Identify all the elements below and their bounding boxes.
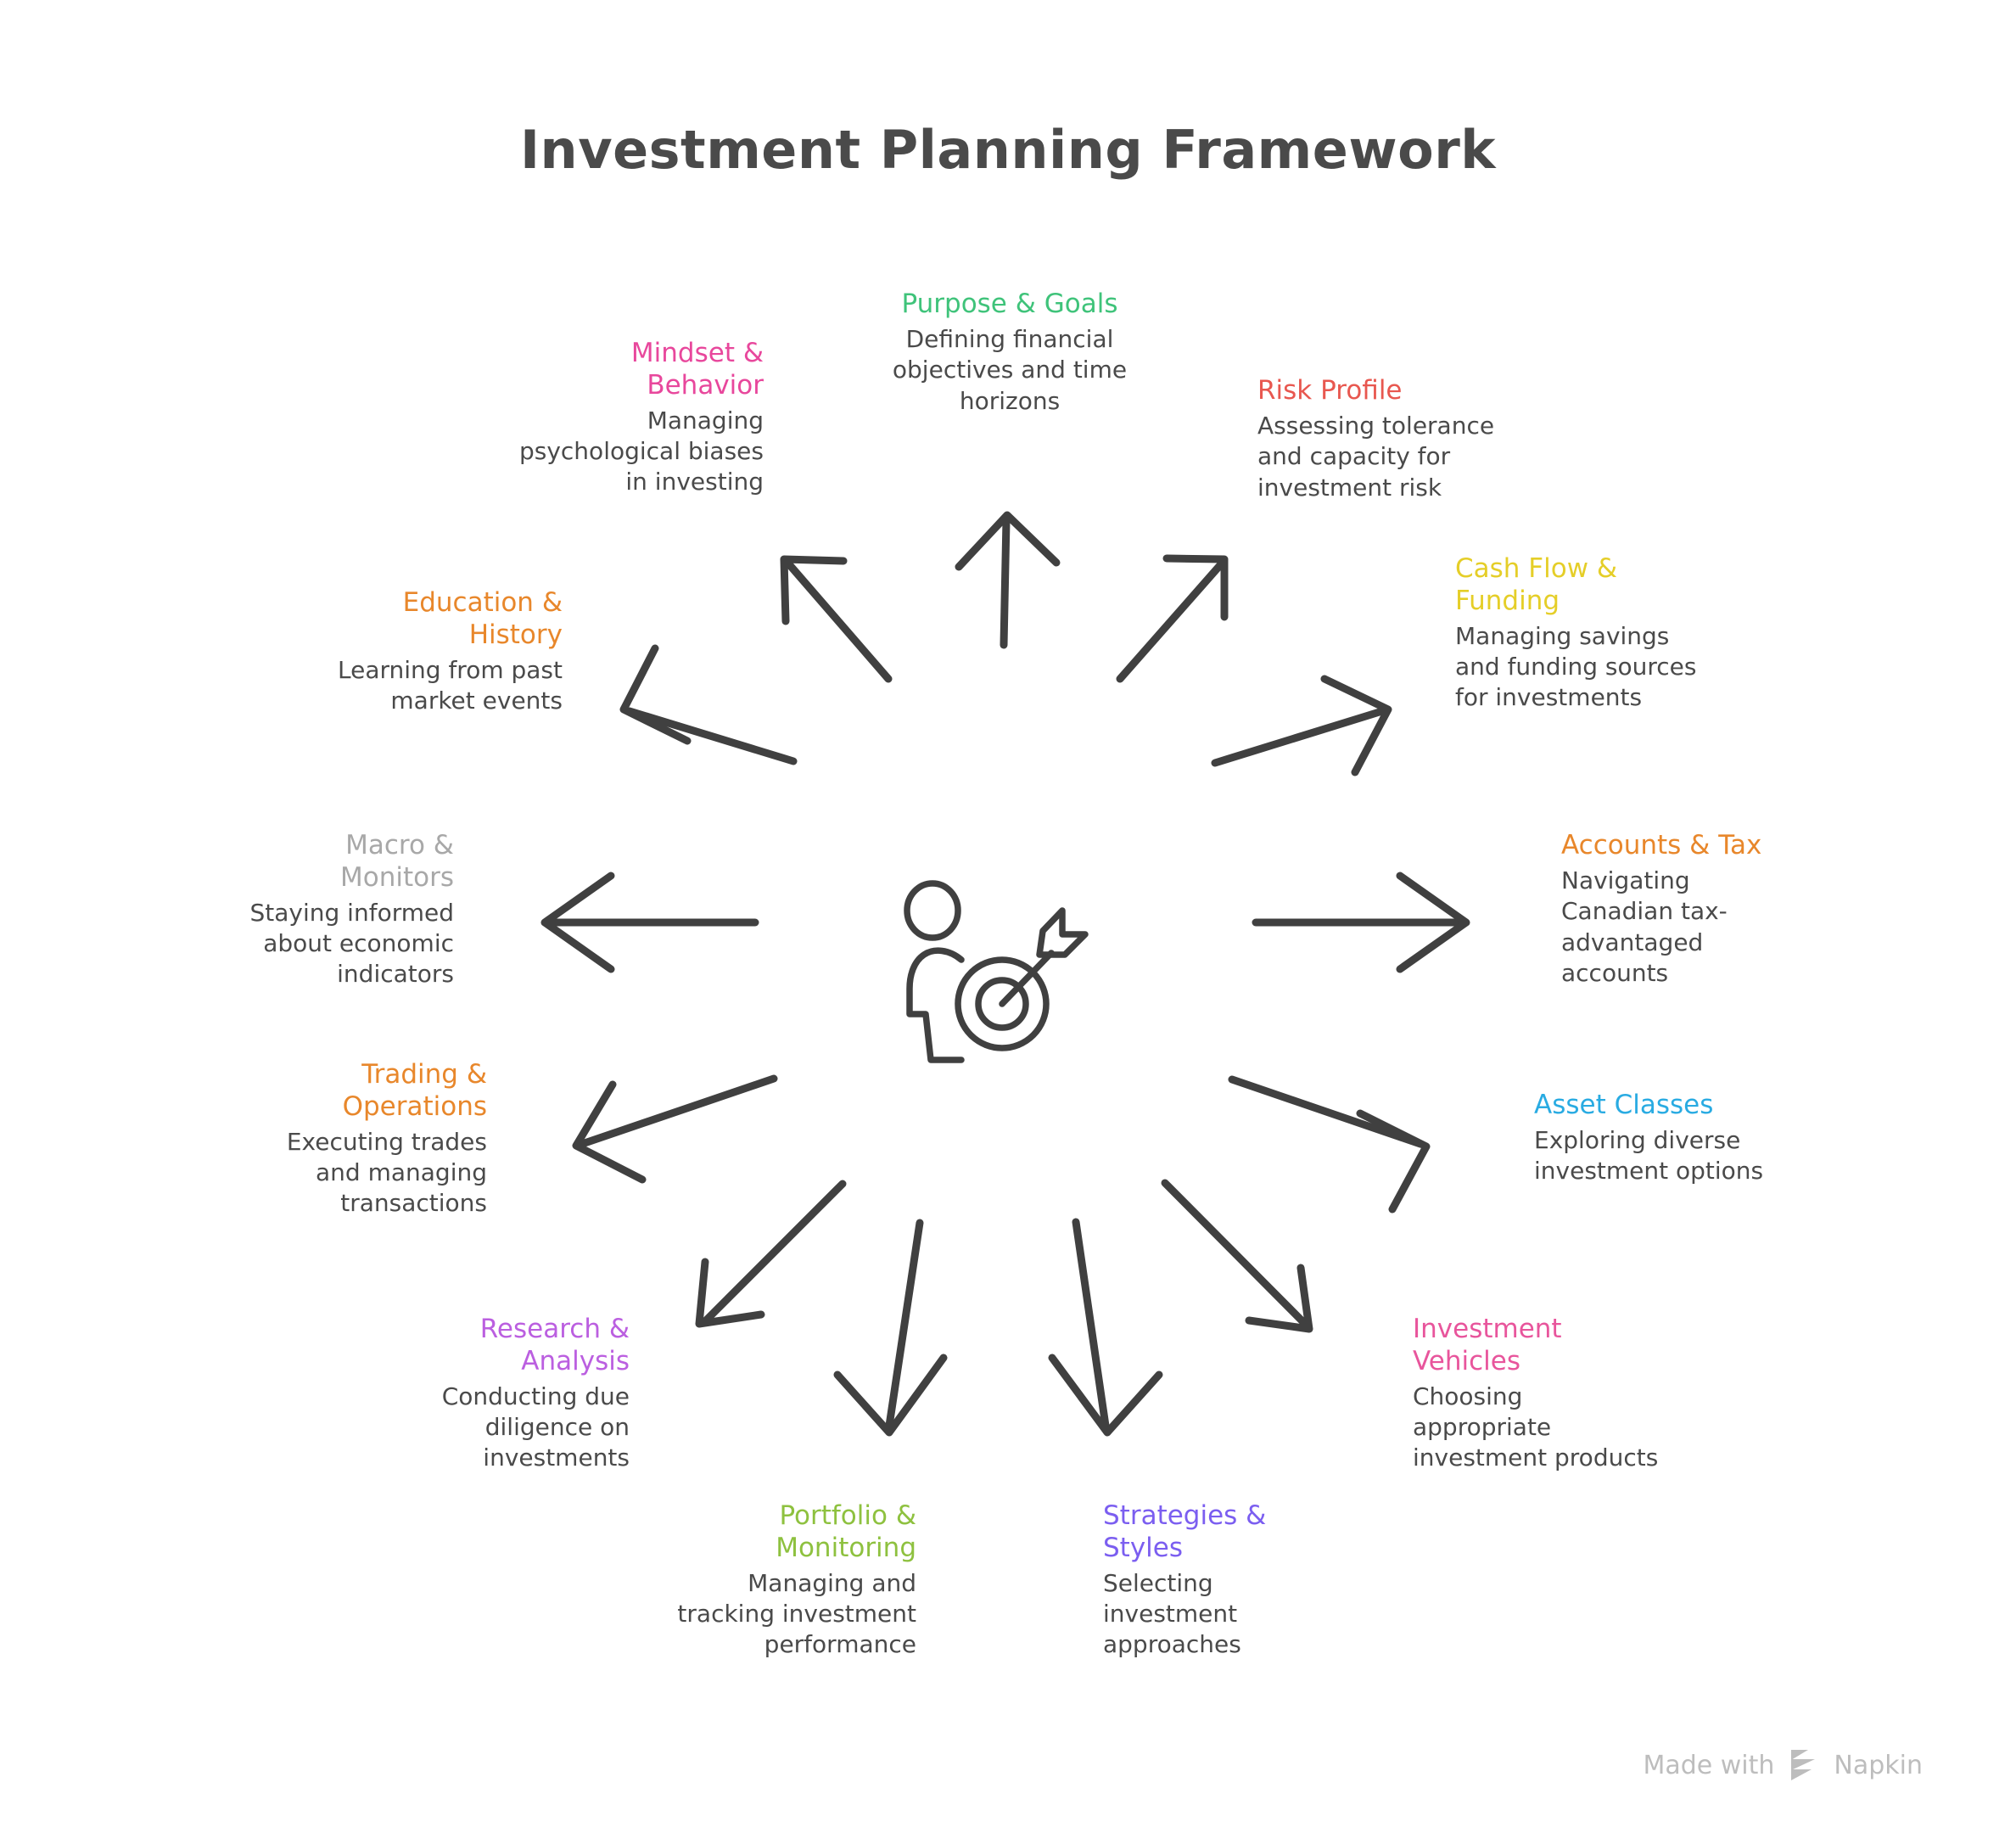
node-description: Managing savings and funding sources for… bbox=[1455, 621, 1744, 714]
node-description: Staying informed about economic indicato… bbox=[212, 898, 454, 990]
arrow-to-purpose-goals bbox=[959, 515, 1056, 645]
arrow-to-trading-operations bbox=[576, 1079, 774, 1180]
node-title: Accounts & Tax bbox=[1561, 830, 1841, 862]
person-with-target-and-arrow-icon bbox=[893, 878, 1097, 1065]
node-title: Portfolio & Monitoring bbox=[628, 1500, 916, 1565]
node-investment-vehicles[interactable]: Investment Vehicles Choosing appropriate… bbox=[1413, 1314, 1701, 1474]
node-description: Defining financial objectives and time h… bbox=[848, 324, 1171, 417]
arrow-to-risk-profile bbox=[1120, 558, 1224, 679]
page-title: Investment Planning Framework bbox=[0, 119, 2016, 181]
node-title: Trading & Operations bbox=[248, 1059, 487, 1124]
made-with-label: Made with bbox=[1643, 1751, 1774, 1780]
arrow-to-portfolio-monitoring bbox=[837, 1223, 944, 1432]
node-research-analysis[interactable]: Research & Analysis Conducting due dilig… bbox=[390, 1314, 630, 1474]
node-macro-monitors[interactable]: Macro & Monitors Staying informed about … bbox=[212, 830, 454, 990]
node-title: Cash Flow & Funding bbox=[1455, 553, 1744, 618]
node-description: Navigating Canadian tax- advantaged acco… bbox=[1561, 866, 1841, 989]
node-title: Research & Analysis bbox=[390, 1314, 630, 1378]
napkin-brand-label: Napkin bbox=[1834, 1751, 1923, 1780]
node-description: Assessing tolerance and capacity for inv… bbox=[1257, 411, 1563, 503]
node-description: Selecting investment approaches bbox=[1103, 1568, 1375, 1661]
napkin-attribution[interactable]: Made with Napkin bbox=[1643, 1748, 1923, 1782]
node-title: Asset Classes bbox=[1534, 1090, 1823, 1122]
node-asset-classes[interactable]: Asset Classes Exploring diverse investme… bbox=[1534, 1090, 1823, 1187]
node-description: Conducting due diligence on investments bbox=[390, 1382, 630, 1474]
arrow-to-macro-monitors bbox=[545, 876, 755, 969]
node-title: Strategies & Styles bbox=[1103, 1500, 1375, 1565]
node-description: Exploring diverse investment options bbox=[1534, 1125, 1823, 1187]
diagram-canvas: Investment Planning Framework bbox=[0, 0, 2016, 1833]
napkin-chevron-logo-icon bbox=[1786, 1748, 1822, 1782]
node-strategies-styles[interactable]: Strategies & Styles Selecting investment… bbox=[1103, 1500, 1375, 1661]
node-education-history[interactable]: Education & History Learning from past m… bbox=[295, 587, 563, 716]
node-description: Choosing appropriate investment products bbox=[1413, 1382, 1701, 1474]
node-title: Risk Profile bbox=[1257, 375, 1563, 407]
arrow-to-education-history bbox=[624, 648, 793, 761]
node-title: Purpose & Goals bbox=[848, 289, 1171, 321]
arrow-to-strategies-styles bbox=[1052, 1222, 1159, 1432]
node-description: Executing trades and managing transactio… bbox=[248, 1127, 487, 1219]
node-purpose-goals[interactable]: Purpose & Goals Defining financial objec… bbox=[848, 289, 1171, 417]
arrow-to-asset-classes bbox=[1232, 1079, 1426, 1209]
arrow-to-accounts-tax bbox=[1256, 876, 1466, 969]
node-title: Education & History bbox=[295, 587, 563, 652]
node-portfolio-monitoring[interactable]: Portfolio & Monitoring Managing and trac… bbox=[628, 1500, 916, 1661]
node-description: Managing psychological biases in investi… bbox=[462, 406, 764, 498]
node-title: Investment Vehicles bbox=[1413, 1314, 1701, 1378]
node-cash-flow-funding[interactable]: Cash Flow & Funding Managing savings and… bbox=[1455, 553, 1744, 714]
node-title: Mindset & Behavior bbox=[462, 338, 764, 402]
arrow-to-investment-vehicles bbox=[1165, 1183, 1309, 1329]
arrow-to-cash-flow-funding bbox=[1215, 679, 1388, 772]
node-title: Macro & Monitors bbox=[212, 830, 454, 894]
node-risk-profile[interactable]: Risk Profile Assessing tolerance and cap… bbox=[1257, 375, 1563, 503]
node-mindset-behavior[interactable]: Mindset & Behavior Managing psychologica… bbox=[462, 338, 764, 498]
node-description: Managing and tracking investment perform… bbox=[628, 1568, 916, 1661]
arrow-to-mindset-behavior bbox=[784, 559, 888, 679]
arrow-to-research-analysis bbox=[699, 1184, 843, 1324]
node-trading-operations[interactable]: Trading & Operations Executing trades an… bbox=[248, 1059, 487, 1219]
node-accounts-tax[interactable]: Accounts & Tax Navigating Canadian tax- … bbox=[1561, 830, 1841, 989]
node-description: Learning from past market events bbox=[295, 655, 563, 717]
